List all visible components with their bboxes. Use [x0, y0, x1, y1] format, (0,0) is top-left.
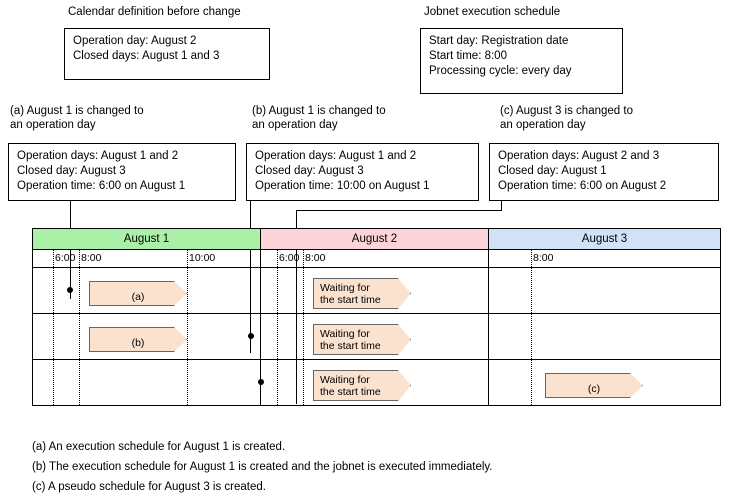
gridline-8-00-day3 — [531, 250, 532, 267]
gridline-10-00-day1-row-c — [187, 360, 188, 405]
case-c-box: Operation days: August 2 and 3 Closed da… — [489, 143, 719, 201]
row-c-day-2: Waiting for the start time — [261, 360, 489, 406]
ticks-day-1: 6:00 8:00 10:00 — [33, 250, 261, 268]
event-dot-b — [248, 333, 254, 339]
note-b: (b) The execution schedule for August 1 … — [32, 461, 492, 473]
row-c-day-3: (c) — [489, 360, 721, 406]
tick-label-8-00-day3: 8:00 — [533, 252, 553, 264]
gridline-8-00-day2-row-b — [303, 314, 304, 359]
timeline-row-b: (b) Waiting for the start time — [33, 314, 721, 360]
tick-label-6-00-day2: 6:00 — [279, 252, 299, 264]
timeline-tick-row: 6:00 8:00 10:00 6:00 8:00 8:00 — [33, 250, 721, 268]
pseudo-schedule-arrow-c: (c) — [545, 373, 643, 398]
case-a-box: Operation days: August 1 and 2 Closed da… — [8, 143, 236, 201]
tick-label-6-00-day1: 6:00 — [55, 252, 75, 264]
gridline-8-00-day1-row-b — [79, 314, 80, 359]
ticks-day-3: 8:00 — [489, 250, 721, 268]
gridline-8-00-day1-row-c — [79, 360, 80, 405]
calendar-definition-title: Calendar definition before change — [68, 6, 241, 18]
gridline-8-00-day2 — [303, 250, 304, 267]
gridline-8-00-day3-row-c — [531, 360, 532, 405]
gridline-8-00-day3-row-a — [531, 268, 532, 313]
case-b-heading: (b) August 1 is changed to an operation … — [252, 104, 386, 132]
gridline-8-00-day2-row-c — [303, 360, 304, 405]
timeline-table: August 1 August 2 August 3 6:00 8:00 10:… — [32, 228, 721, 406]
gridline-8-00-day2-row-a — [303, 268, 304, 313]
timeline-row-c: Waiting for the start time (c) — [33, 360, 721, 406]
note-c: (c) A pseudo schedule for August 3 is cr… — [32, 481, 266, 493]
connector-c-horizontal — [296, 210, 502, 211]
row-a-day-3 — [489, 268, 721, 314]
gridline-6-00-day2 — [277, 250, 278, 267]
gridline-6-00-day1-row-c — [53, 360, 54, 405]
tick-label-8-00-day2: 8:00 — [305, 252, 325, 264]
day-header-august-2: August 2 — [261, 229, 489, 250]
gridline-10-00-day1-row-a — [187, 268, 188, 313]
row-a-day-2: Waiting for the start time — [261, 268, 489, 314]
gridline-10-00-day1-row-b — [187, 314, 188, 359]
schedule-arrow-a: (a) — [89, 281, 187, 306]
gridline-6-00-day1-row-a — [53, 268, 54, 313]
row-b-day-2: Waiting for the start time — [261, 314, 489, 360]
row-c-day-1 — [33, 360, 261, 406]
calendar-definition-box: Operation day: August 2 Closed days: Aug… — [64, 28, 270, 80]
gridline-6-00-day2-row-c — [277, 360, 278, 405]
row-b-day-1: (b) — [33, 314, 261, 360]
gridline-6-00-day2-row-a — [277, 268, 278, 313]
case-c-heading: (c) August 3 is changed to an operation … — [500, 104, 633, 132]
note-a: (a) An execution schedule for August 1 i… — [32, 441, 285, 453]
jobnet-schedule-title: Jobnet execution schedule — [424, 6, 560, 18]
timeline-day-header-row: August 1 August 2 August 3 — [33, 229, 721, 250]
gridline-6-00-day1-row-b — [53, 314, 54, 359]
row-b-day-3 — [489, 314, 721, 360]
gridline-8-00-day1-row-a — [79, 268, 80, 313]
event-dot-a — [67, 287, 73, 293]
day-header-august-3: August 3 — [489, 229, 721, 250]
event-dot-c — [258, 379, 264, 385]
waiting-arrow-a: Waiting for the start time — [313, 278, 411, 309]
ticks-day-2: 6:00 8:00 — [261, 250, 489, 268]
gridline-8-00-day3-row-b — [531, 314, 532, 359]
gridline-8-00-day1 — [79, 250, 80, 267]
case-b-box: Operation days: August 1 and 2 Closed da… — [246, 143, 479, 201]
row-a-day-1: (a) — [33, 268, 261, 314]
gridline-10-00-day1 — [187, 250, 188, 267]
day-header-august-1: August 1 — [33, 229, 261, 250]
gridline-6-00-day2-row-b — [277, 314, 278, 359]
connector-c-riser — [501, 201, 502, 211]
case-a-heading: (a) August 1 is changed to an operation … — [10, 104, 144, 132]
gridline-6-00-day1 — [53, 250, 54, 267]
schedule-arrow-b: (b) — [89, 327, 187, 352]
tick-label-8-00-day1: 8:00 — [81, 252, 101, 264]
waiting-arrow-b: Waiting for the start time — [313, 324, 411, 355]
tick-label-10-00-day1: 10:00 — [189, 252, 215, 264]
waiting-arrow-c: Waiting for the start time — [313, 370, 411, 401]
timeline-row-a: (a) Waiting for the start time — [33, 268, 721, 314]
jobnet-schedule-box: Start day: Registration date Start time:… — [420, 28, 623, 94]
